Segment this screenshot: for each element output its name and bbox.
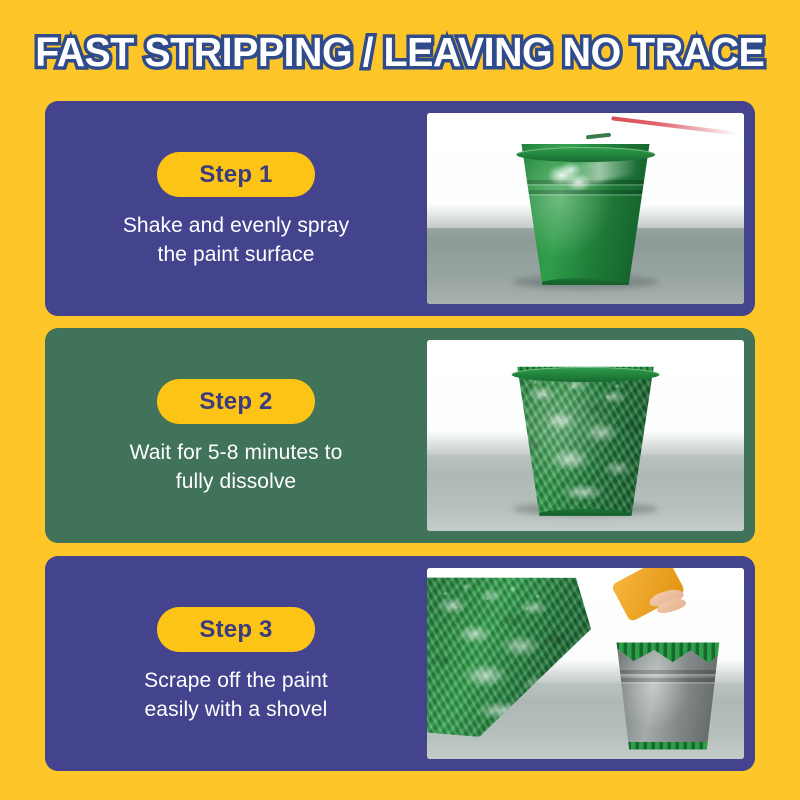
poster-root: FAST STRIPPING / LEAVING NO TRACE Step 1…: [0, 0, 800, 800]
step-2-text-block: Step 2 Wait for 5-8 minutes to fully dis…: [45, 328, 427, 543]
step-card-2: Step 2 Wait for 5-8 minutes to fully dis…: [45, 328, 755, 543]
step-2-photo: [427, 340, 744, 531]
step-2-description-line-1: Wait for 5-8 minutes to: [130, 441, 343, 464]
bucket-band: [615, 678, 720, 682]
bare-metal-bucket: [611, 643, 725, 750]
step-3-description-line-1: Scrape off the paint: [144, 669, 328, 692]
step-1-description-line-1: Shake and evenly spray: [123, 214, 349, 237]
step-card-3: Step 3 Scrape off the paint easily with …: [45, 556, 755, 771]
step-2-photo-pane: [427, 328, 755, 543]
step-2-description-line-2: fully dissolve: [176, 470, 296, 493]
step-1-photo-pane: [427, 101, 755, 316]
bucket-rim: [511, 367, 660, 382]
step-3-description-line-2: easily with a shovel: [145, 698, 328, 721]
step-3-photo: [427, 568, 744, 759]
headline-banner: FAST STRIPPING / LEAVING NO TRACE: [0, 22, 800, 82]
step-1-description: Shake and evenly spray the paint surface: [123, 211, 349, 269]
residual-paint-collar: [611, 640, 725, 664]
page-title: FAST STRIPPING / LEAVING NO TRACE: [35, 29, 764, 76]
step-3-description: Scrape off the paint easily with a shove…: [144, 666, 328, 724]
step-3-badge: Step 3: [157, 607, 315, 652]
bucket-band: [615, 670, 720, 674]
step-1-description-line-2: the paint surface: [158, 243, 315, 266]
step-1-photo: [427, 113, 744, 304]
step-3-photo-pane: [427, 556, 755, 771]
step-card-1: Step 1 Shake and evenly spray the paint …: [45, 101, 755, 316]
step-1-badge: Step 1: [157, 152, 315, 197]
step-3-text-block: Step 3 Scrape off the paint easily with …: [45, 556, 427, 771]
step-1-text-block: Step 1 Shake and evenly spray the paint …: [45, 101, 427, 316]
bucket-rim: [516, 147, 655, 162]
step-2-badge: Step 2: [157, 379, 315, 424]
step-2-description: Wait for 5-8 minutes to fully dissolve: [130, 438, 343, 496]
